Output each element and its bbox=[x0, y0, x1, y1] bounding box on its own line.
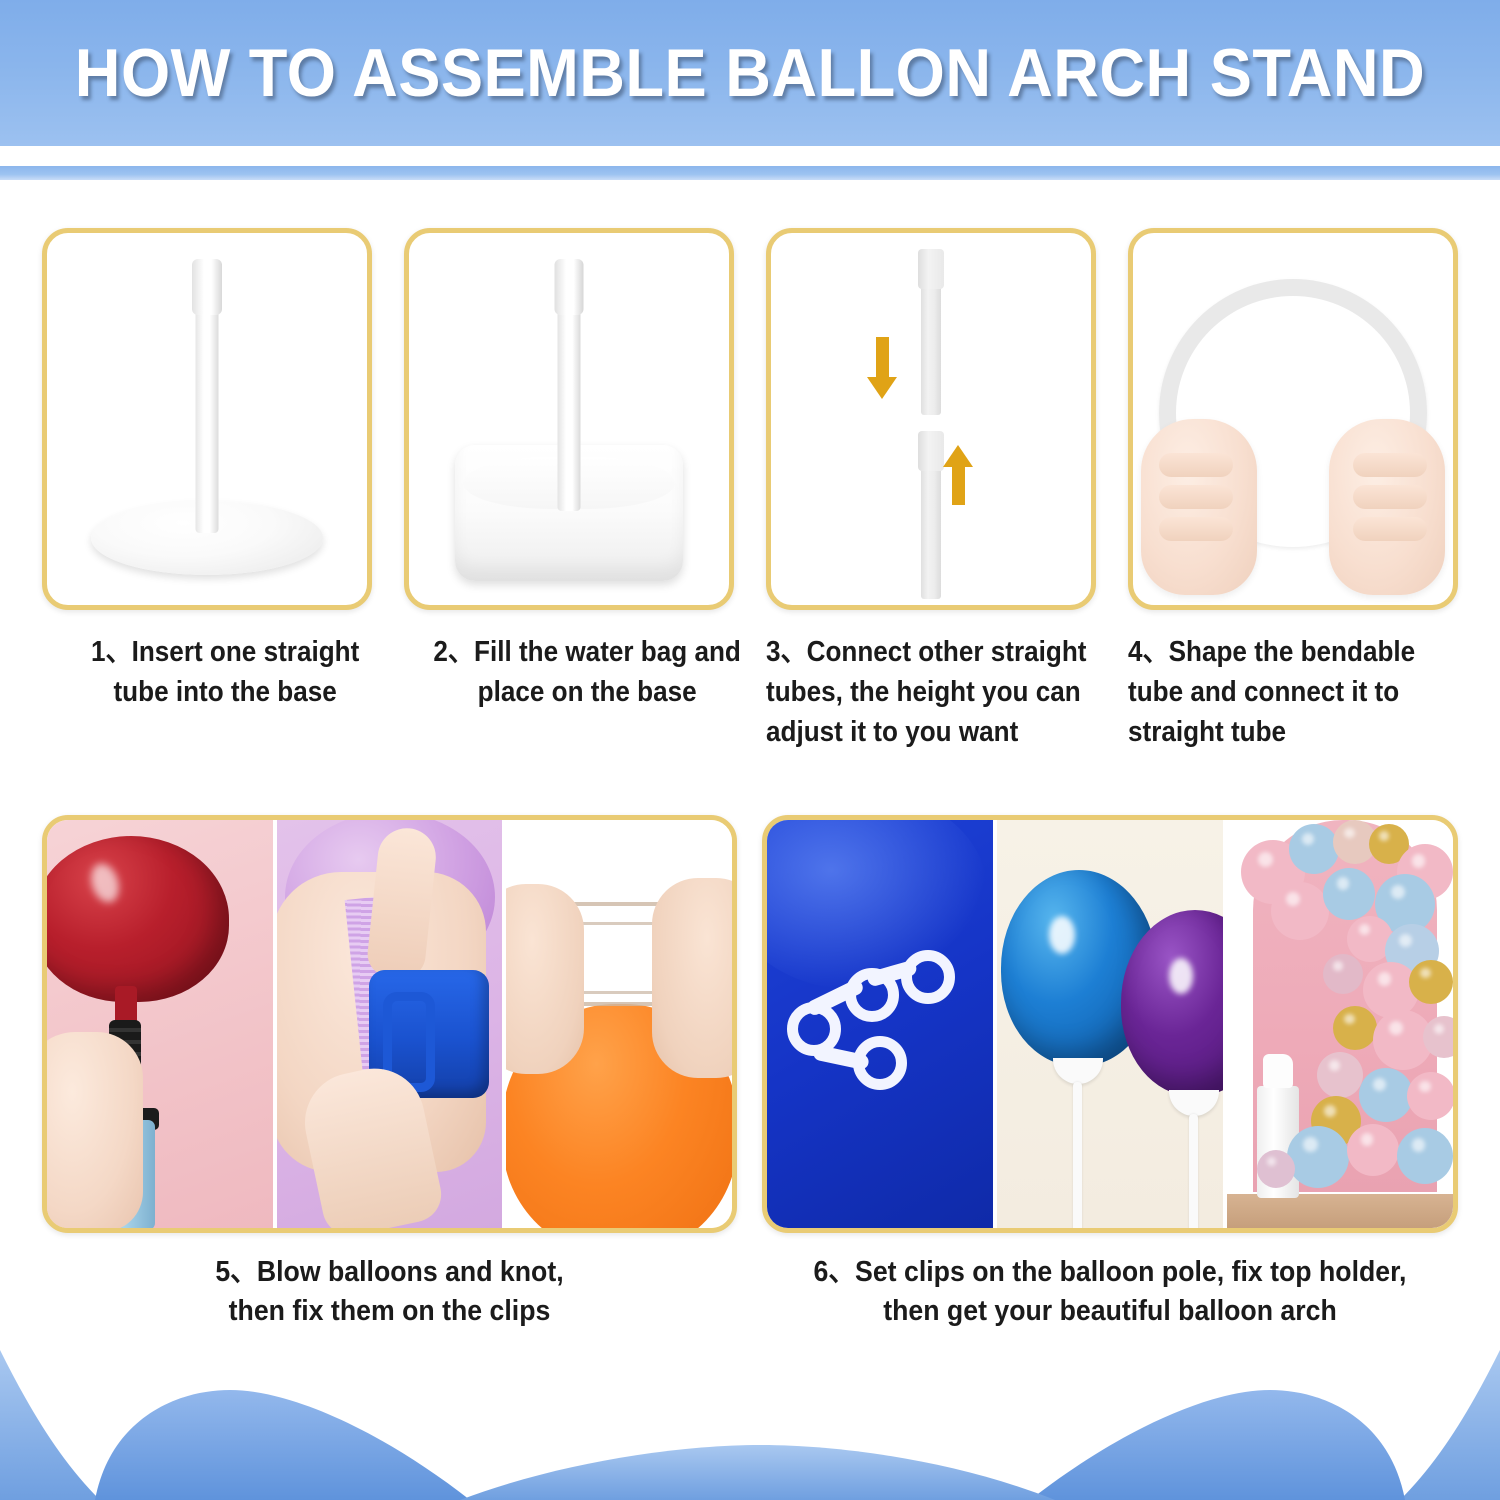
tube-cap bbox=[918, 431, 944, 471]
step-card-2: 2、Fill the water bag and place on the ba… bbox=[404, 228, 734, 712]
arch-balloon bbox=[1407, 1072, 1453, 1120]
step-1-caption-line-1: 1、Insert one straight bbox=[60, 632, 390, 672]
arch-balloon bbox=[1323, 868, 1375, 920]
step-card-5: 5、Blow balloons and knot, then fix them … bbox=[42, 815, 737, 1332]
step-5-image-frame bbox=[42, 815, 737, 1233]
arch-balloon-confetti bbox=[1323, 954, 1363, 994]
step-2-image-frame bbox=[404, 228, 734, 610]
balloon-stick bbox=[1189, 1114, 1198, 1228]
right-hand bbox=[1329, 419, 1445, 595]
step-1-caption-line-2: tube into the base bbox=[60, 672, 390, 712]
arrow-up-icon bbox=[943, 445, 973, 505]
tube-collar-shape bbox=[192, 259, 222, 315]
bendable-tube-illustration bbox=[1133, 233, 1453, 605]
finger bbox=[1353, 453, 1427, 477]
left-hand bbox=[502, 884, 584, 1074]
arch-balloon bbox=[1397, 1128, 1453, 1184]
balloon-gloss bbox=[1169, 958, 1193, 994]
tube-cap bbox=[918, 249, 944, 289]
upper-tube-segment bbox=[921, 249, 941, 415]
step-6-caption-line-1: 6、Set clips on the balloon pole, fix top… bbox=[790, 1253, 1430, 1292]
clip-ring bbox=[901, 950, 955, 1004]
step-4-caption-line-2: tube and connect it to bbox=[1128, 672, 1458, 712]
step-6-caption-line-2: then get your beautiful balloon arch bbox=[790, 1292, 1430, 1331]
step-2-caption: 2、Fill the water bag and place on the ba… bbox=[422, 632, 752, 712]
balloon-gloss bbox=[1049, 916, 1075, 954]
finger bbox=[1353, 485, 1427, 509]
balloon-cup-holder bbox=[1169, 1090, 1219, 1116]
page-title: HOW TO ASSEMBLE BALLON ARCH STAND bbox=[53, 0, 1448, 146]
tube-collar-shape bbox=[555, 259, 584, 315]
wave-front-center bbox=[460, 1445, 1055, 1500]
floor bbox=[1227, 1194, 1453, 1228]
header-white-gap bbox=[0, 146, 1500, 166]
step-4-caption-line-1: 4、Shape the bendable bbox=[1128, 632, 1458, 672]
step-card-6: 6、Set clips on the balloon pole, fix top… bbox=[762, 815, 1458, 1332]
left-hand bbox=[1141, 419, 1257, 595]
step-4-caption-line-3: straight tube bbox=[1128, 712, 1458, 752]
arrow-down-icon bbox=[867, 337, 897, 397]
wave-mid-left bbox=[95, 1390, 470, 1500]
arch-balloon bbox=[1271, 882, 1329, 940]
arch-balloon-gold bbox=[1333, 1006, 1377, 1050]
step-2-caption-line-2: place on the base bbox=[422, 672, 752, 712]
header-banner: HOW TO ASSEMBLE BALLON ARCH STAND bbox=[0, 0, 1500, 146]
step-5-caption-line-1: 5、Blow balloons and knot, bbox=[70, 1253, 709, 1292]
finger bbox=[1159, 453, 1233, 477]
step-5-caption: 5、Blow balloons and knot, then fix them … bbox=[70, 1253, 709, 1332]
finger bbox=[1353, 517, 1427, 541]
arrow-head bbox=[867, 377, 897, 399]
step-6-image-frame bbox=[762, 815, 1458, 1233]
photo-balloons-on-holders bbox=[993, 820, 1223, 1228]
steps-area: 1、Insert one straight tube into the base… bbox=[0, 180, 1500, 1360]
tube-connection-illustration bbox=[771, 233, 1091, 605]
wave-back-right bbox=[1400, 1350, 1500, 1500]
step-6-caption: 6、Set clips on the balloon pole, fix top… bbox=[790, 1253, 1430, 1332]
arch-balloon-gold bbox=[1409, 960, 1453, 1004]
arrow-shaft bbox=[876, 337, 889, 379]
red-balloon bbox=[47, 836, 229, 1002]
step-4-image-frame bbox=[1128, 228, 1458, 610]
photo-balloon-on-strip bbox=[502, 820, 732, 1228]
step-1-caption: 1、Insert one straight tube into the base bbox=[60, 632, 390, 712]
wave-mid-right bbox=[1030, 1390, 1405, 1500]
water-bag-illustration bbox=[409, 233, 729, 605]
step-card-3: 3、Connect other straight tubes, the heig… bbox=[766, 228, 1096, 752]
photo-clips-closeup bbox=[767, 820, 993, 1228]
photo-knotting-balloon bbox=[273, 820, 503, 1228]
lower-tube-segment bbox=[921, 431, 941, 599]
step-3-caption-line-2: tubes, the height you can bbox=[766, 672, 1096, 712]
arch-balloon bbox=[1347, 1124, 1399, 1176]
finger bbox=[1159, 485, 1233, 509]
arrow-shaft bbox=[952, 463, 965, 505]
step-5-caption-line-2: then fix them on the clips bbox=[70, 1292, 709, 1331]
right-hand bbox=[652, 878, 732, 1078]
arch-balloon bbox=[1289, 824, 1339, 874]
photo-inflating-balloon bbox=[47, 820, 273, 1228]
arch-balloon bbox=[1287, 1126, 1349, 1188]
balloon-cup-holder bbox=[1053, 1058, 1103, 1084]
balloon-stick bbox=[1073, 1082, 1082, 1228]
tube-and-disc-base-illustration bbox=[47, 233, 367, 605]
arch-balloon bbox=[1359, 1068, 1413, 1122]
step-3-caption: 3、Connect other straight tubes, the heig… bbox=[766, 632, 1096, 752]
finger bbox=[1159, 517, 1233, 541]
bottom-wave-decoration bbox=[0, 1350, 1500, 1500]
photo-finished-balloon-arch bbox=[1223, 820, 1453, 1228]
step-2-caption-line-1: 2、Fill the water bag and bbox=[422, 632, 752, 672]
step-3-image-frame bbox=[766, 228, 1096, 610]
arrow-head bbox=[943, 445, 973, 467]
arch-balloon-confetti bbox=[1317, 1052, 1363, 1098]
header-accent-rule bbox=[0, 166, 1500, 180]
step-card-4: 4、Shape the bendable tube and connect it… bbox=[1128, 228, 1458, 752]
arch-balloon-confetti bbox=[1257, 1150, 1295, 1188]
hand bbox=[47, 1032, 143, 1228]
step-1-image-frame bbox=[42, 228, 372, 610]
step-4-caption: 4、Shape the bendable tube and connect it… bbox=[1128, 632, 1458, 752]
step-card-1: 1、Insert one straight tube into the base bbox=[42, 228, 372, 712]
step-3-caption-line-3: adjust it to you want bbox=[766, 712, 1096, 752]
step-3-caption-line-1: 3、Connect other straight bbox=[766, 632, 1096, 672]
wave-back bbox=[0, 1350, 100, 1500]
white-clip-chain bbox=[783, 950, 973, 1100]
deer-ornament bbox=[1263, 1054, 1293, 1088]
